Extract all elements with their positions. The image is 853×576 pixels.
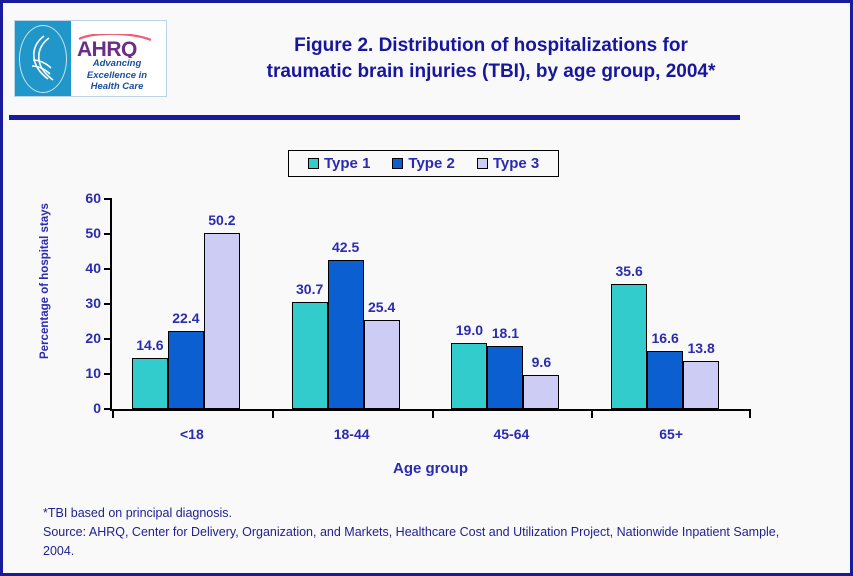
x-tick-label-18-44: 18-44 [292, 426, 412, 442]
ahrq-tagline-line1: Advancing [71, 58, 163, 70]
bar-45-64-Type 1[interactable] [451, 343, 487, 410]
x-tick-label-65+: 65+ [611, 426, 731, 442]
legend-item-3[interactable]: Type 3 [477, 155, 539, 172]
y-tick-label: 10 [65, 365, 101, 381]
bar-value-label: 13.8 [673, 340, 729, 356]
figure-notes: *TBI based on principal diagnosis. Sourc… [43, 504, 783, 561]
bar-value-label: 50.2 [194, 212, 250, 228]
bar-value-label: 42.5 [318, 239, 374, 255]
legend-swatch-icon [477, 158, 488, 169]
bar-value-label: 35.6 [601, 263, 657, 279]
ahrq-acronym-icon: AHRQ [75, 34, 163, 58]
svg-text:AHRQ: AHRQ [77, 38, 137, 58]
legend-label: Type 3 [493, 155, 539, 172]
bar-65+-Type 2[interactable] [647, 351, 683, 409]
bar-65+-Type 1[interactable] [611, 284, 647, 409]
bar-18-44-Type 2[interactable] [328, 260, 364, 409]
legend-item-2[interactable]: Type 2 [392, 155, 454, 172]
x-axis-line [110, 409, 751, 411]
bar-18-44-Type 3[interactable] [364, 320, 400, 409]
y-tick-label: 0 [65, 400, 101, 416]
hhs-seal-bird-icon [24, 33, 62, 85]
header-divider [9, 115, 740, 120]
bar-18-44-Type 1[interactable] [292, 302, 328, 409]
chart-legend: Type 1Type 2Type 3 [288, 150, 559, 177]
ahrq-tagline: Advancing Excellence in Health Care [71, 58, 163, 93]
y-tick-mark [104, 303, 110, 305]
legend-label: Type 1 [324, 155, 370, 172]
x-tick-mark [432, 411, 434, 418]
bar-45-64-Type 3[interactable] [523, 375, 559, 409]
y-tick-mark [104, 373, 110, 375]
x-tick-mark [591, 411, 593, 418]
legend-label: Type 2 [408, 155, 454, 172]
figure-page: AHRQ Advancing Excellence in Health Care… [0, 0, 853, 576]
ahrq-tagline-line2: Excellence in [71, 70, 163, 82]
bar-<18-Type 2[interactable] [168, 331, 204, 409]
y-tick-mark [104, 268, 110, 270]
page-title-line2: traumatic brain injuries (TBI), by age g… [181, 59, 801, 85]
hhs-seal-icon [15, 21, 71, 96]
y-tick-label: 60 [65, 190, 101, 206]
y-axis-line [110, 198, 112, 411]
page-title-line1: Figure 2. Distribution of hospitalizatio… [181, 33, 801, 59]
y-axis-title: Percentage of hospital stays [39, 186, 51, 376]
bar-value-label: 9.6 [513, 354, 569, 370]
y-tick-label: 40 [65, 260, 101, 276]
y-tick-mark [104, 338, 110, 340]
y-tick-mark [104, 408, 110, 410]
x-tick-mark [749, 411, 751, 418]
x-axis-title: Age group [110, 460, 751, 477]
bar-value-label: 18.1 [477, 325, 533, 341]
bar-value-label: 25.4 [354, 299, 410, 315]
bar-<18-Type 1[interactable] [132, 358, 168, 409]
ahrq-tagline-line3: Health Care [71, 81, 163, 93]
y-tick-label: 30 [65, 295, 101, 311]
bar-<18-Type 3[interactable] [204, 233, 240, 409]
y-tick-label: 20 [65, 330, 101, 346]
x-tick-mark [272, 411, 274, 418]
ahrq-logo: AHRQ Advancing Excellence in Health Care [14, 20, 167, 97]
ahrq-wordmark-area: AHRQ Advancing Excellence in Health Care [71, 21, 166, 96]
legend-swatch-icon [392, 158, 403, 169]
figure-header: AHRQ Advancing Excellence in Health Care… [3, 3, 850, 111]
page-title: Figure 2. Distribution of hospitalizatio… [181, 33, 801, 85]
x-tick-label-45-64: 45-64 [451, 426, 571, 442]
y-tick-mark [104, 233, 110, 235]
legend-item-1[interactable]: Type 1 [308, 155, 370, 172]
y-tick-label: 50 [65, 225, 101, 241]
y-tick-mark [104, 198, 110, 200]
x-tick-mark [112, 411, 114, 418]
x-tick-label-<18: <18 [132, 426, 252, 442]
legend-swatch-icon [308, 158, 319, 169]
footnote-text: *TBI based on principal diagnosis. [43, 504, 783, 523]
source-text: Source: AHRQ, Center for Delivery, Organ… [43, 523, 783, 561]
bar-65+-Type 3[interactable] [683, 361, 719, 409]
